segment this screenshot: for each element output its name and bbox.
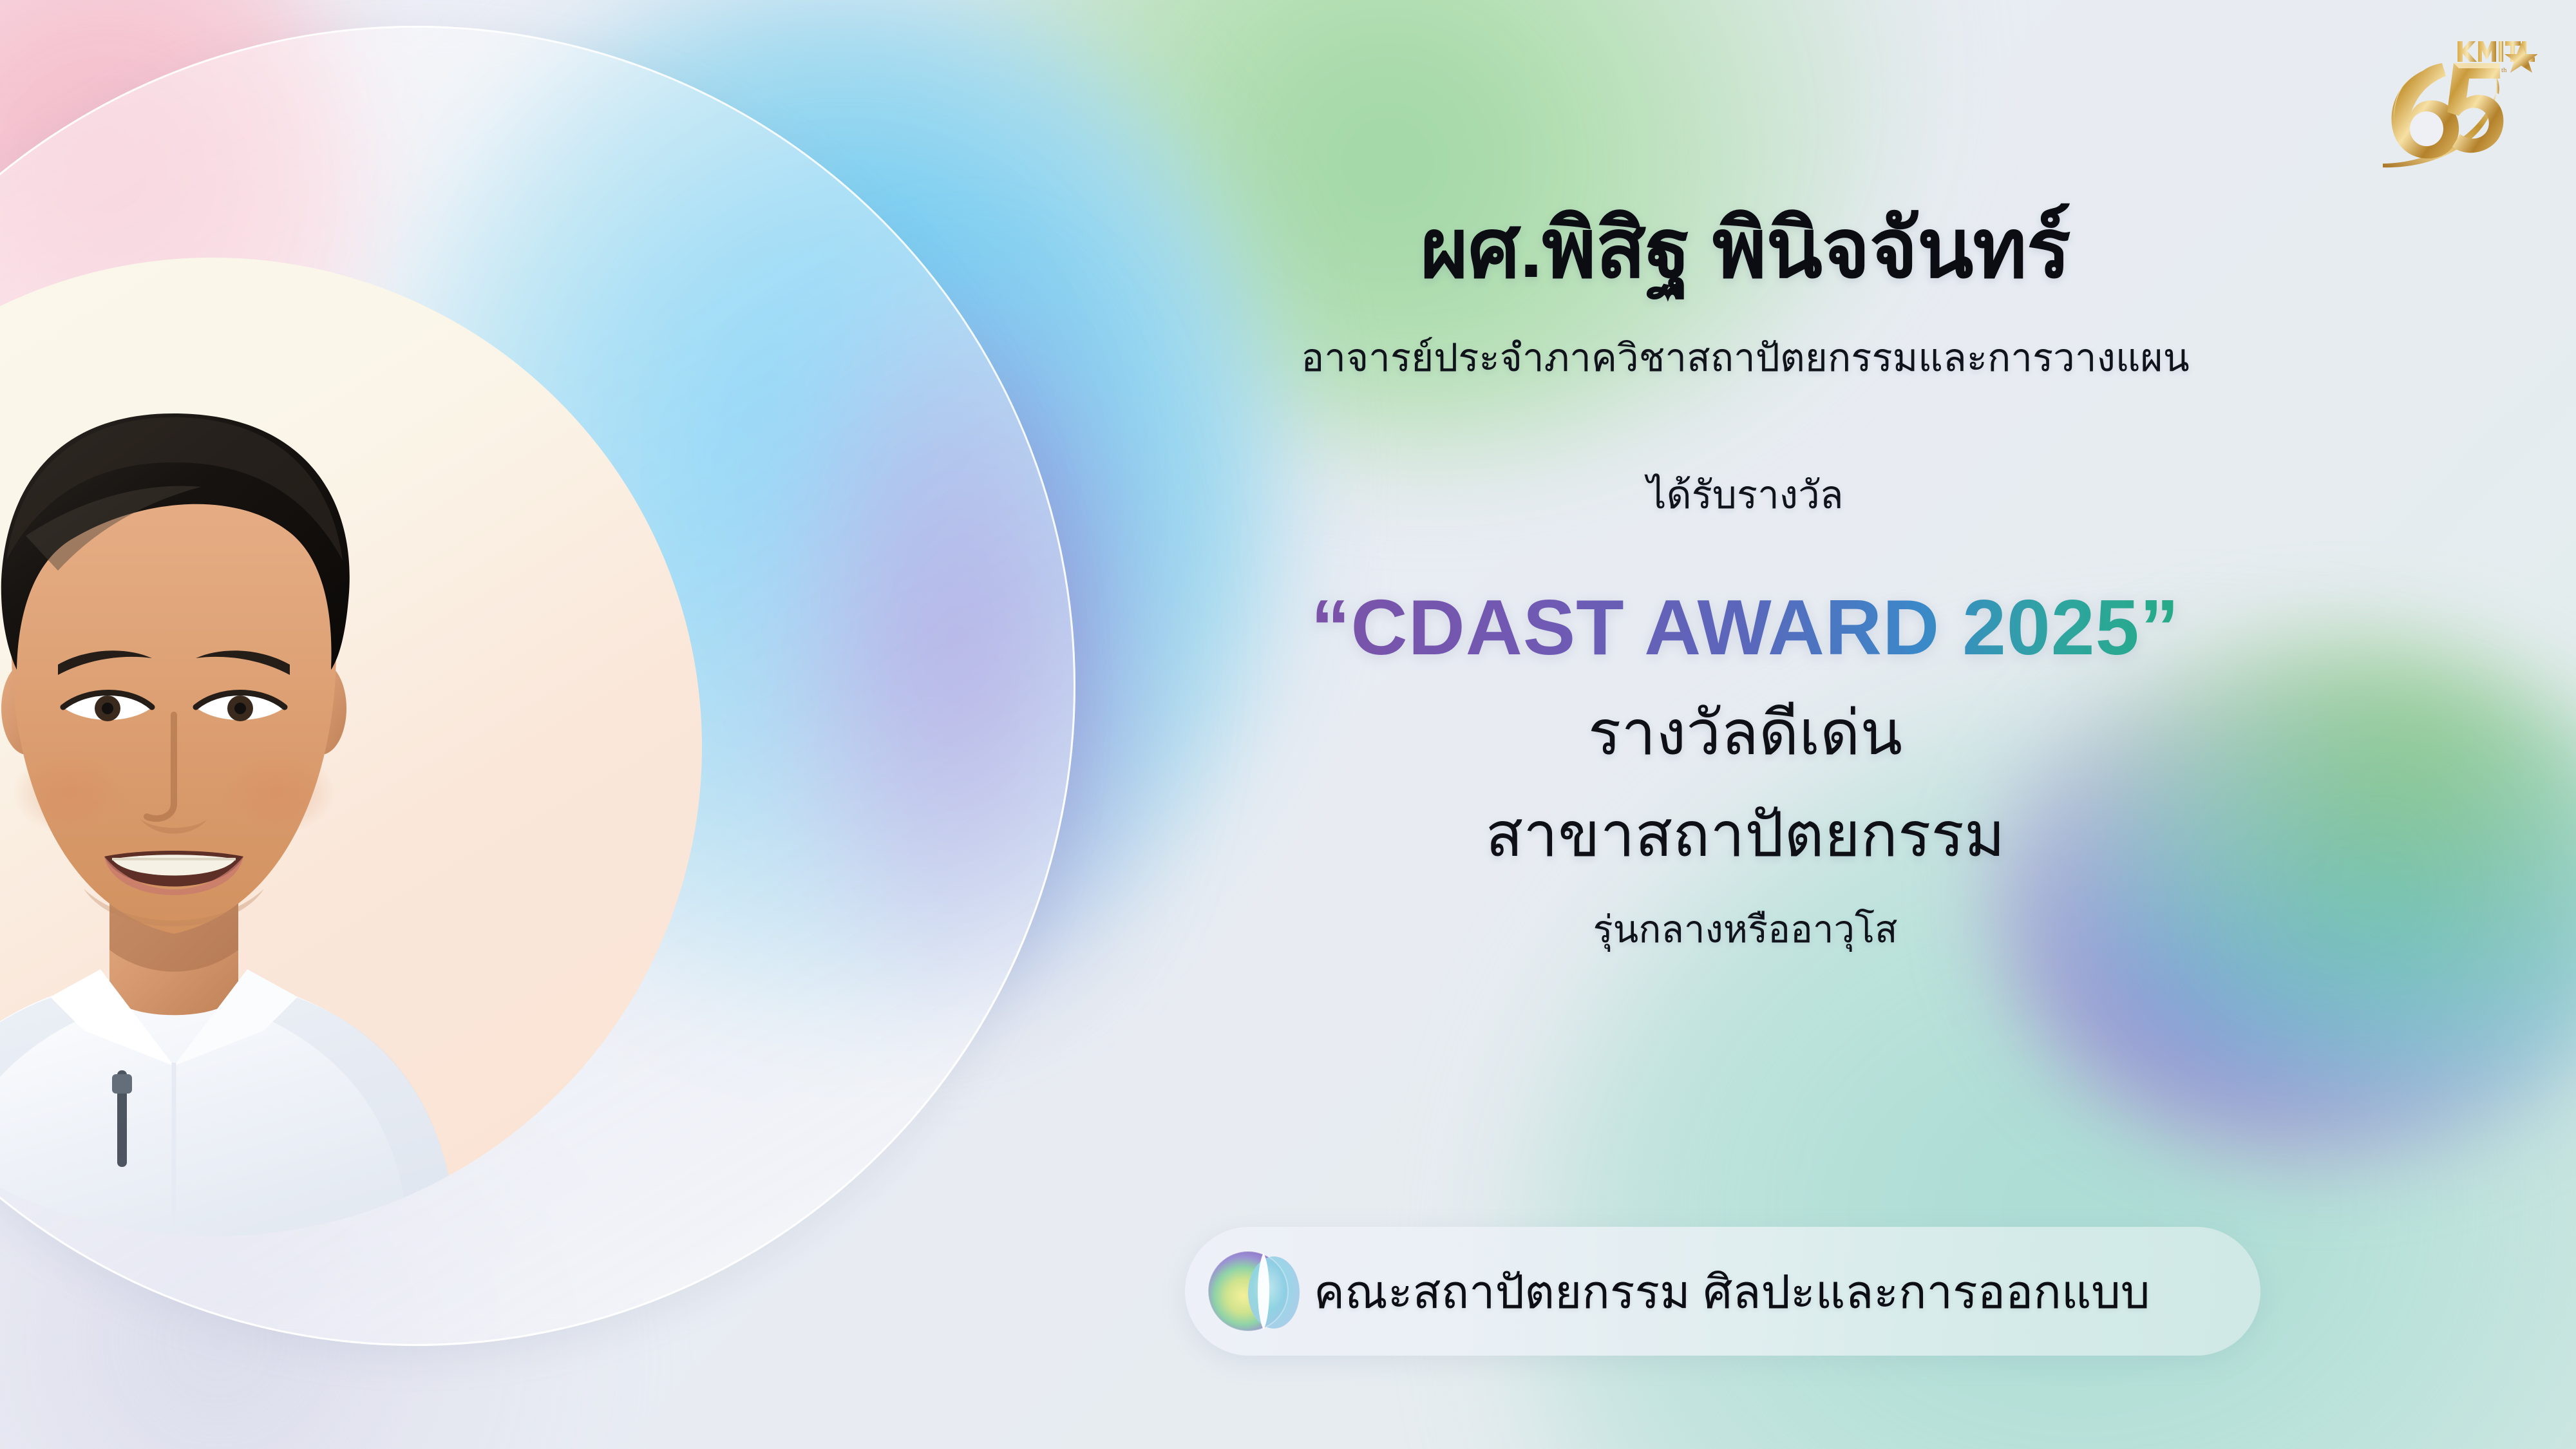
- faculty-name: คณะสถาปัตยกรรม ศิลปะและการออกแบบ: [1314, 1255, 2150, 1329]
- faculty-orb-logo: [1202, 1240, 1305, 1343]
- star-icon: [2505, 43, 2537, 73]
- honoree-name: ผศ.พิสิฐ พินิจจันทร์: [1421, 206, 2070, 292]
- award-line-1: รางวัลดีเด่น: [1588, 684, 1902, 782]
- award-line-2: สาขาสถาปัตยกรรม: [1486, 786, 2005, 884]
- award-announcement-poster: ผศ.พิสิฐ พินิจจันทร์ อาจารย์ประจำภาควิชา…: [0, 0, 2576, 1449]
- award-title: “CDAST AWARD 2025”: [1311, 582, 2180, 672]
- portrait-disc: [0, 258, 702, 1236]
- portrait-photo: [0, 258, 702, 1236]
- received-label: ได้รับรางวัล: [1647, 464, 1843, 526]
- honoree-role: อาจารย์ประจำภาควิชาสถาปัตยกรรมและการวางแ…: [1301, 327, 2189, 388]
- kmitl-65th-anniversary-logo: th: [2363, 31, 2537, 173]
- ordinal-suffix: th: [2501, 66, 2507, 74]
- award-level: รุ่นกลางหรืออาวุโส: [1593, 899, 1897, 959]
- faculty-badge: คณะสถาปัตยกรรม ศิลปะและการออกแบบ: [1185, 1227, 2260, 1356]
